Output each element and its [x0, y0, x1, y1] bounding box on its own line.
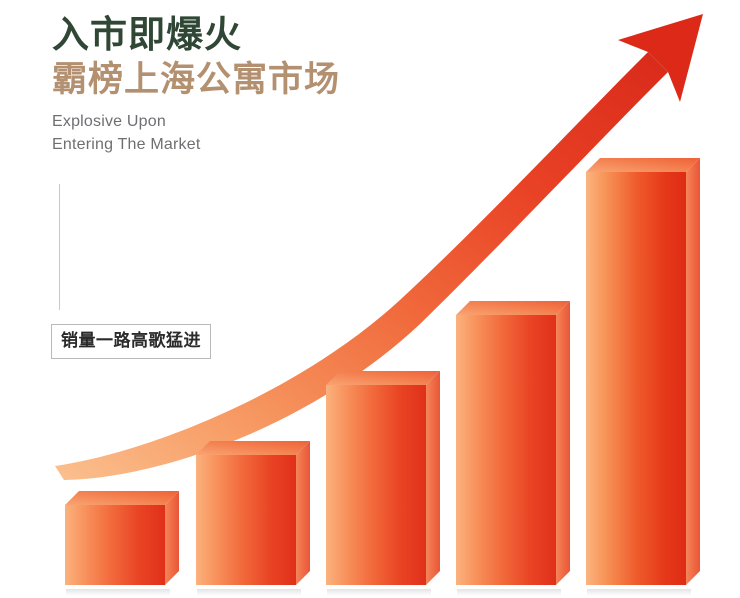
subtitle-en-line-2: Entering The Market	[52, 133, 452, 156]
bar-3	[326, 371, 440, 596]
caption-box: 销量一路高歌猛进	[51, 324, 211, 359]
bar-5	[586, 158, 700, 596]
headline-line-1: 入市即爆火	[52, 12, 452, 58]
vertical-rule	[59, 184, 60, 310]
bar-1	[65, 491, 179, 596]
headline-line-2: 霸榜上海公寓市场	[52, 58, 452, 102]
bar-4	[456, 301, 570, 596]
bar-2	[196, 441, 310, 596]
poster-canvas: 入市即爆火 霸榜上海公寓市场 Explosive Upon Entering T…	[0, 0, 740, 598]
subtitle-en-line-1: Explosive Upon	[52, 110, 452, 133]
caption-text: 销量一路高歌猛进	[61, 331, 201, 351]
headline-block: 入市即爆火 霸榜上海公寓市场 Explosive Upon Entering T…	[52, 12, 452, 156]
